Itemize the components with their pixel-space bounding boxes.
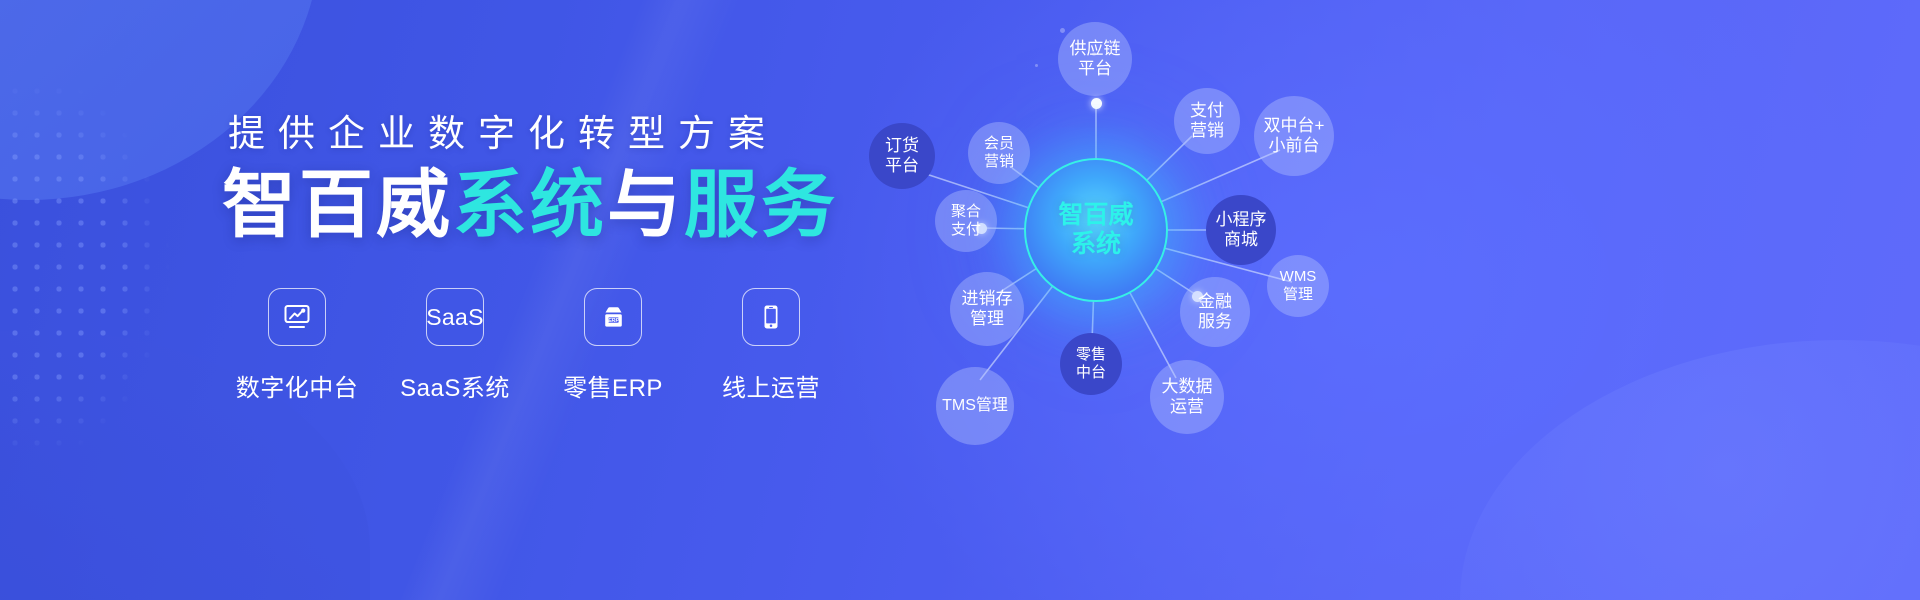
feature-item-saas-system[interactable]: SaaS SaaS系统 <box>400 288 510 403</box>
saas-text-icon: SaaS <box>426 304 483 331</box>
diagram-node-inventory-management[interactable]: 进销存 管理 <box>950 272 1024 346</box>
feature-item-digital-midplatform[interactable]: 数字化中台 <box>242 288 352 403</box>
diagram-node-ordering-platform[interactable]: 订货 平台 <box>869 123 935 189</box>
diagram-node-supply-chain-platform[interactable]: 供应链 平台 <box>1058 22 1132 96</box>
chart-image-icon <box>281 301 313 333</box>
diagram-node-payment-marketing[interactable]: 支付 营销 <box>1174 88 1240 154</box>
diagram-node-dual-midplatform[interactable]: 双中台+ 小前台 <box>1254 96 1334 176</box>
hub-label-line2: 系统 <box>1071 230 1121 260</box>
hero-headline: 智百威系统与服务 <box>222 168 838 242</box>
feature-icon-box[interactable]: ERP <box>584 288 642 346</box>
feature-label: 线上运营 <box>722 368 820 403</box>
feature-icon-box[interactable] <box>742 288 800 346</box>
mobile-phone-icon <box>756 302 786 332</box>
svg-text:ERP: ERP <box>607 317 618 323</box>
diagram-node-bigdata-operations[interactable]: 大数据 运营 <box>1150 360 1224 434</box>
connector-endpoint-dot <box>1091 98 1102 109</box>
feature-label: 数字化中台 <box>236 368 359 403</box>
headline-part-4: 服务 <box>684 163 838 246</box>
hero-subtitle: 提供企业数字化转型方案 <box>228 103 778 157</box>
diagram-hub-node[interactable]: 智百威 系统 <box>1024 158 1168 302</box>
feature-item-online-operations[interactable]: 线上运营 <box>716 288 826 403</box>
feature-item-retail-erp[interactable]: ERP 零售ERP <box>558 288 668 403</box>
erp-box-icon: ERP <box>597 301 630 334</box>
diagram-node-wms-management[interactable]: WMS 管理 <box>1267 255 1329 317</box>
feature-label: SaaS系统 <box>400 368 510 403</box>
feature-icon-row: 数字化中台 SaaS SaaS系统 ERP <box>242 288 826 403</box>
feature-icon-box[interactable] <box>268 288 326 346</box>
hero-banner: 提供企业数字化转型方案 智百威系统与服务 数字化中台 <box>0 0 1920 600</box>
headline-part-3: 与 <box>607 163 684 246</box>
feature-label: 零售ERP <box>563 368 663 403</box>
headline-part-1: 智百威 <box>222 163 453 246</box>
diagram-node-tms-management[interactable]: TMS管理 <box>936 367 1014 445</box>
headline-part-2: 系统 <box>453 163 607 246</box>
diagram-node-aggregate-payment[interactable]: 聚合 支付 <box>935 190 997 252</box>
diagram-node-mini-program-mall[interactable]: 小程序 商城 <box>1206 195 1276 265</box>
system-network-diagram: 智百威 系统 供应链 平台 支付 营销 双中台+ 小前台 订货 平台 会员 营销… <box>840 0 1920 600</box>
hub-label-line1: 智百威 <box>1058 201 1133 231</box>
hero-text-column: 提供企业数字化转型方案 智百威系统与服务 数字化中台 <box>0 0 960 600</box>
feature-icon-box[interactable]: SaaS <box>426 288 484 346</box>
diagram-node-financial-services[interactable]: 金融 服务 <box>1180 277 1250 347</box>
diagram-node-retail-midplatform[interactable]: 零售 中台 <box>1060 333 1122 395</box>
diagram-node-member-marketing[interactable]: 会员 营销 <box>968 122 1030 184</box>
